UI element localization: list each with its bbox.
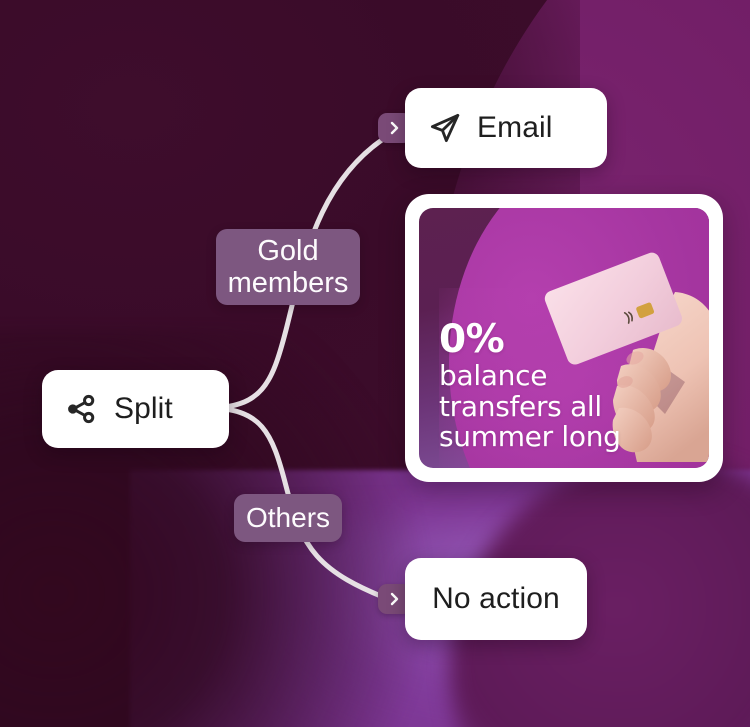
- promo-copy: 0% balance transfers all summer long: [439, 320, 621, 452]
- branch-label-others[interactable]: Others: [234, 494, 342, 542]
- node-split[interactable]: Split: [42, 370, 229, 448]
- node-label: No action: [432, 582, 560, 616]
- send-icon: [427, 110, 463, 146]
- branch-label-line2: members: [228, 267, 349, 299]
- promo-line-1: balance: [439, 361, 621, 391]
- share-icon: [64, 392, 98, 426]
- promo-line-3: summer long: [439, 422, 621, 452]
- branch-label-line1: Others: [246, 502, 330, 533]
- branch-label-line1: Gold: [228, 235, 349, 267]
- node-label: Email: [477, 111, 553, 145]
- promo-creative-card[interactable]: 0% balance transfers all summer long: [405, 194, 723, 482]
- promo-artwork: 0% balance transfers all summer long: [419, 208, 709, 468]
- promo-headline: 0%: [439, 320, 621, 360]
- node-no-action[interactable]: No action: [405, 558, 587, 640]
- branch-label-gold-members[interactable]: Gold members: [216, 229, 360, 305]
- chevron-right-icon: [388, 591, 402, 607]
- node-label: Split: [114, 392, 173, 426]
- node-email[interactable]: Email: [405, 88, 607, 168]
- chevron-right-icon: [388, 120, 402, 136]
- promo-line-2: transfers all: [439, 392, 621, 422]
- flow-canvas: Gold members Others Split Email No: [0, 0, 750, 727]
